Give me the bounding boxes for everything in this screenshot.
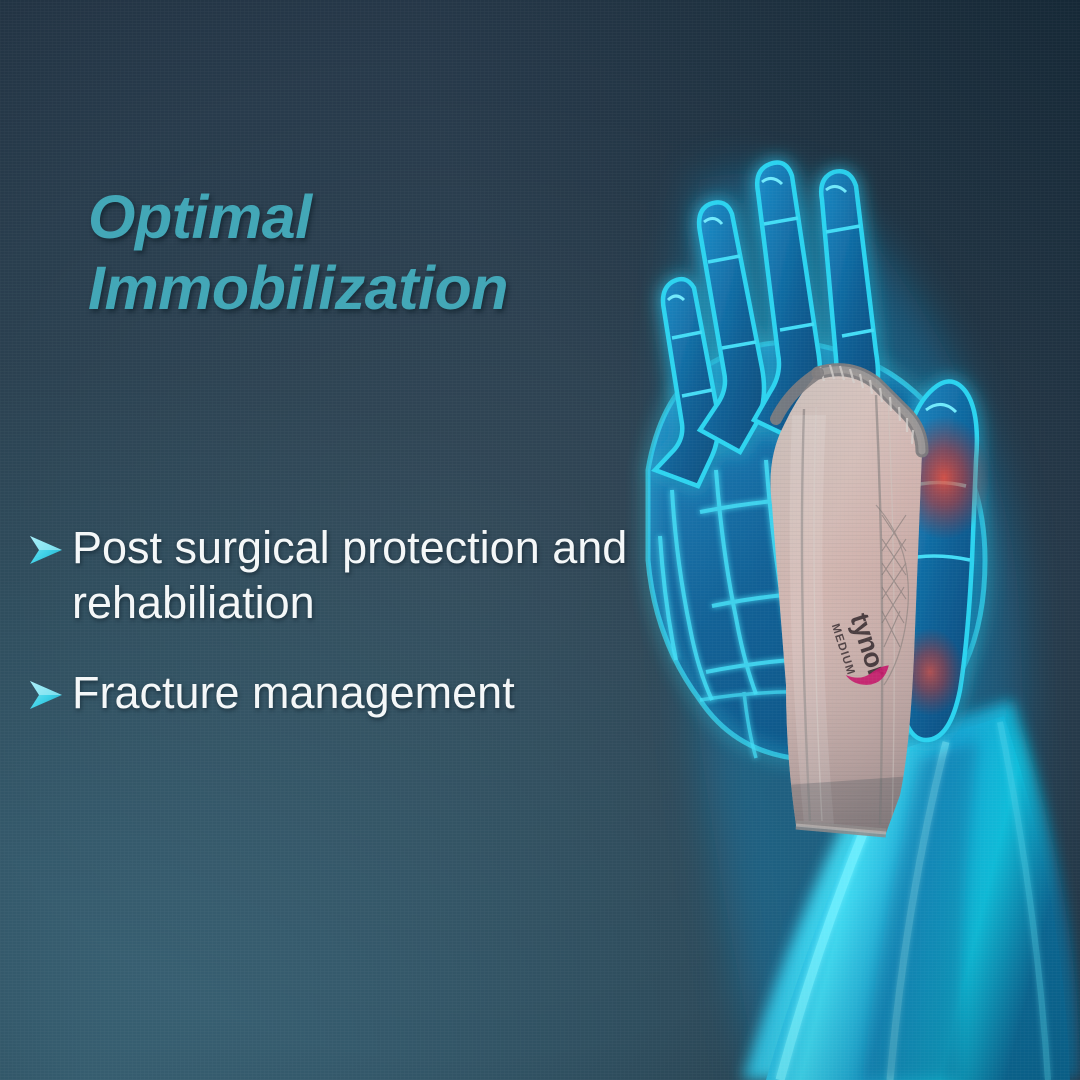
list-item-label: Fracture management [72,665,515,720]
poster-canvas: tynor MEDIUM Optimal Immobilization [0,0,1080,1080]
arrow-bullet-icon [22,672,68,718]
arrow-bullet-icon [22,527,68,573]
benefits-list: Post surgical protection and rehabiliati… [22,520,722,754]
list-item: Post surgical protection and rehabiliati… [22,520,722,631]
list-item: Fracture management [22,665,722,720]
list-item-label: Post surgical protection and rehabiliati… [72,520,712,631]
page-title: Optimal Immobilization [88,182,688,325]
